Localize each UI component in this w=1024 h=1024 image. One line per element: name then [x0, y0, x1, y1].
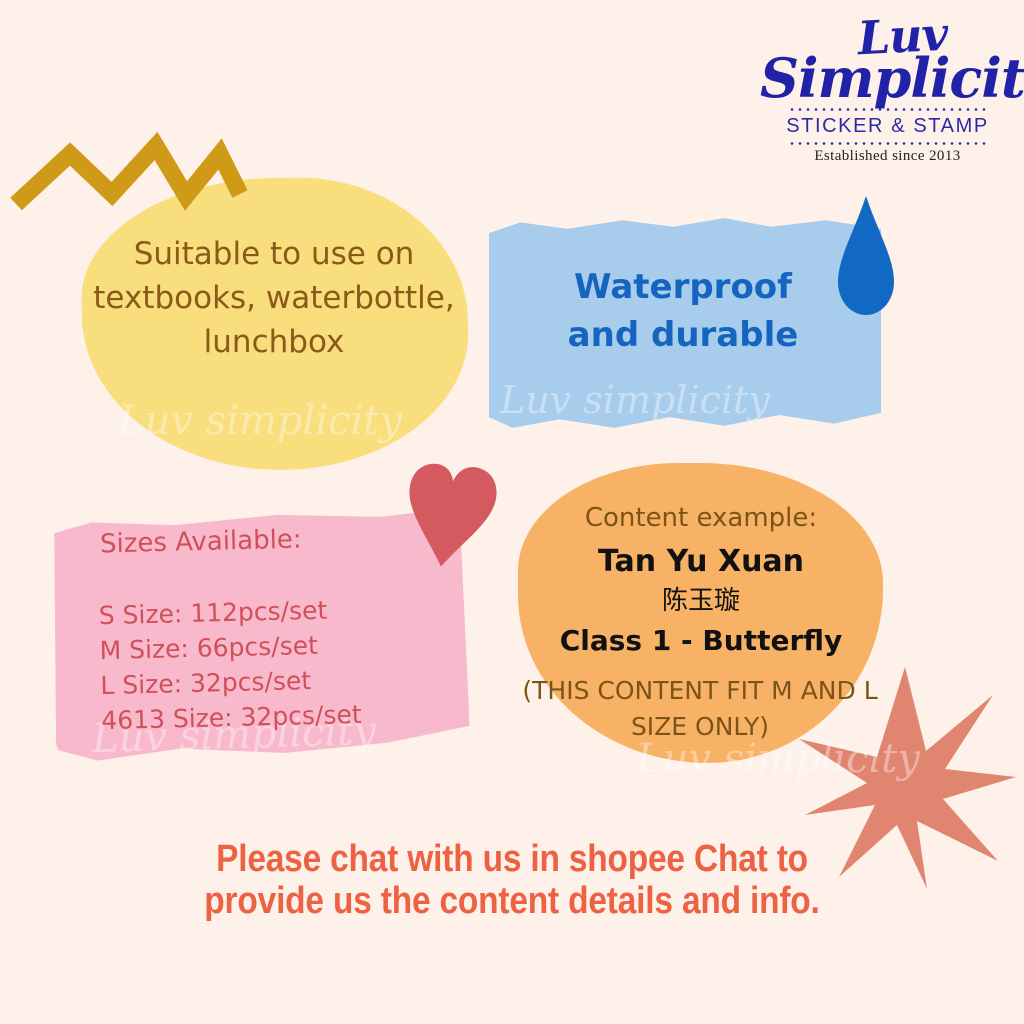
- logo-dotted-divider-bottom: [788, 142, 987, 145]
- footer-call-to-action: Please chat with us in shopee Chat to pr…: [116, 838, 908, 922]
- content-example-heading: Content example:: [525, 503, 877, 533]
- content-size-note: (THIS CONTENT FIT M AND L SIZE ONLY): [520, 673, 880, 745]
- blue-card-line1: Waterproof: [518, 263, 848, 311]
- yellow-card-text: Suitable to use on textbooks, waterbottl…: [88, 232, 460, 364]
- content-example-name-cn: 陈玉璇: [525, 586, 877, 616]
- content-example-class: Class 1 - Butterfly: [525, 625, 877, 657]
- sizes-list: S Size: 112pcs/set M Size: 66pcs/set L S…: [98, 590, 441, 738]
- brand-logo: Luv Simplicity STICKER & STAMP Establish…: [760, 14, 1015, 165]
- poster-canvas: Luv Simplicity STICKER & STAMP Establish…: [0, 0, 1024, 1024]
- footer-line2: provide us the content details and info.: [116, 880, 908, 922]
- blue-card-text: Waterproof and durable: [518, 263, 848, 359]
- logo-subtitle: STICKER & STAMP: [760, 114, 1015, 138]
- zigzag-icon: [8, 132, 248, 212]
- sizes-available-title: Sizes Available:: [100, 525, 302, 560]
- logo-established-text: Established since 2013: [760, 148, 1015, 165]
- content-example-name-en: Tan Yu Xuan: [525, 545, 877, 579]
- heart-icon: [398, 463, 498, 571]
- blue-card-line2: and durable: [518, 311, 848, 359]
- water-droplet-icon: [838, 196, 894, 316]
- footer-line1: Please chat with us in shopee Chat to: [116, 838, 908, 880]
